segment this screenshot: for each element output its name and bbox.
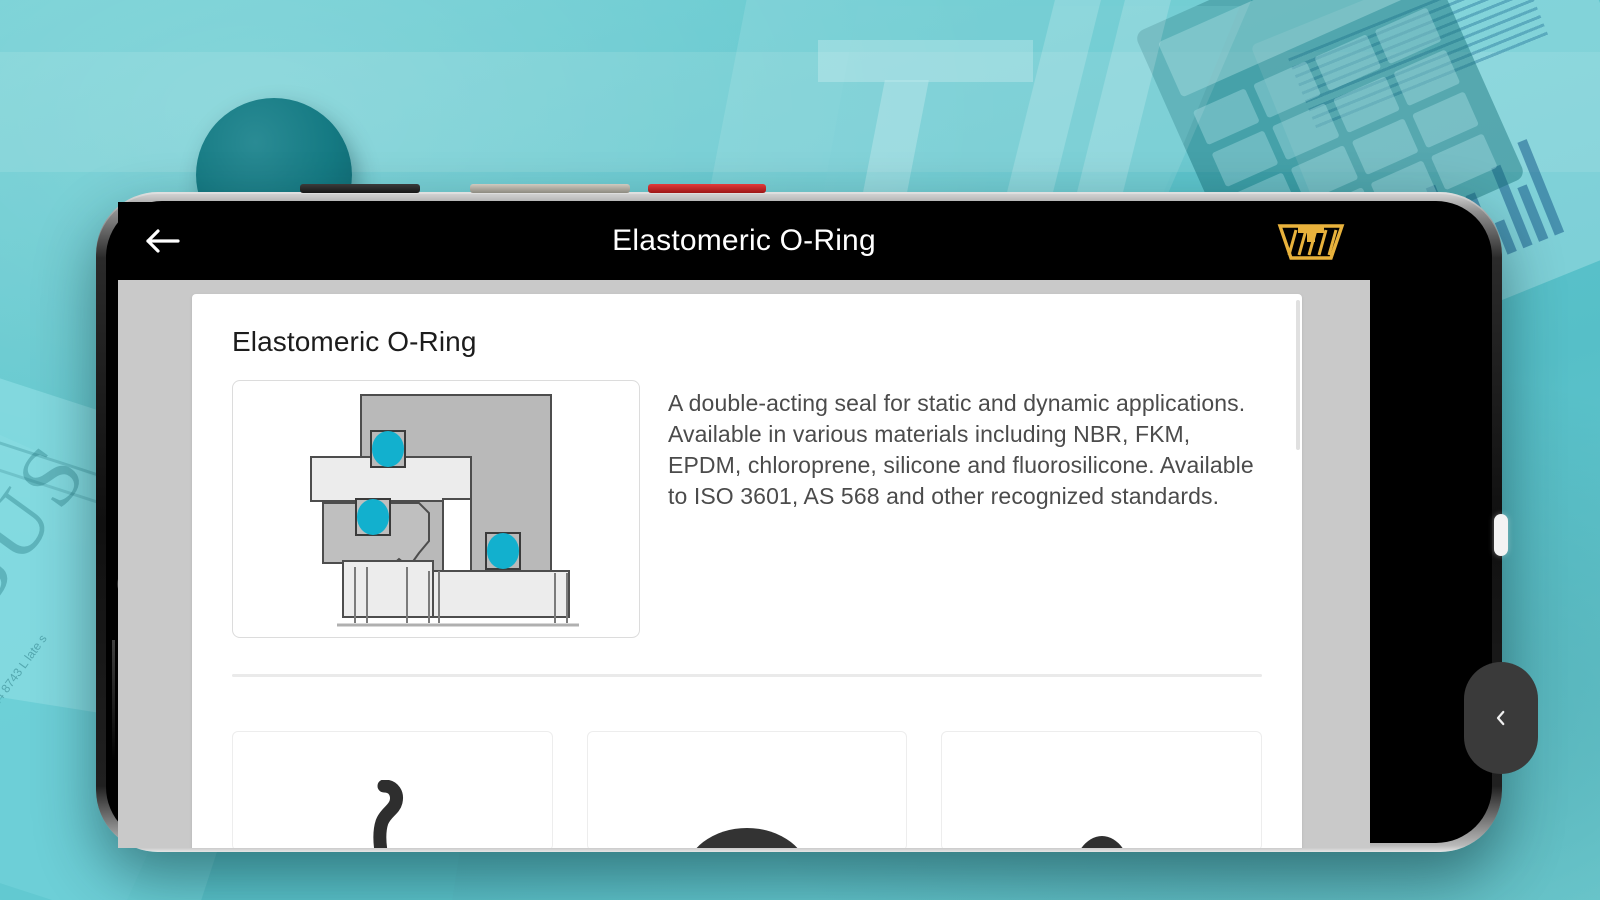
chevron-left-icon — [1492, 709, 1510, 727]
bezel-seam — [112, 640, 115, 760]
oring-3 — [487, 533, 519, 569]
scrollbar[interactable] — [1296, 300, 1300, 450]
content-card: Elastomeric O-Ring — [192, 294, 1302, 848]
trelleborg-logo-icon — [1276, 220, 1346, 262]
dome-seal-silhouette-icon — [667, 780, 827, 848]
oring-2 — [357, 499, 389, 535]
product-description: A double-acting seal for static and dyna… — [668, 380, 1262, 512]
app-bar: Elastomeric O-Ring — [118, 202, 1370, 280]
related-products-row — [232, 731, 1262, 848]
led-indicator-pill — [1494, 514, 1508, 556]
product-tile-3[interactable] — [941, 731, 1262, 848]
small-dome-seal-silhouette-icon — [1042, 780, 1162, 848]
product-tile-2[interactable] — [587, 731, 908, 848]
back-button[interactable] — [142, 226, 198, 256]
page-body[interactable]: Elastomeric O-Ring — [118, 280, 1370, 848]
floating-nav-button[interactable] — [1464, 662, 1538, 774]
arrow-left-icon — [142, 226, 182, 256]
app-screen: Elastomeric O-Ring Elastomeric O-Ring — [118, 202, 1370, 848]
content-heading: Elastomeric O-Ring — [232, 326, 1262, 358]
section-divider — [232, 674, 1262, 677]
oring-1 — [372, 431, 404, 467]
product-tile-1[interactable] — [232, 731, 553, 848]
cross-section-svg — [233, 381, 640, 638]
product-summary-row: A double-acting seal for static and dyna… — [232, 380, 1262, 638]
brand-logo-button[interactable] — [1276, 220, 1346, 262]
page-title: Elastomeric O-Ring — [118, 224, 1370, 258]
volume-button[interactable] — [470, 184, 630, 193]
watermark-t-bar — [818, 40, 1033, 82]
o-ring-cross-section-diagram[interactable] — [232, 380, 640, 638]
hook-seal-silhouette-icon — [332, 780, 452, 848]
power-button[interactable] — [648, 184, 766, 193]
mute-switch[interactable] — [300, 184, 420, 193]
